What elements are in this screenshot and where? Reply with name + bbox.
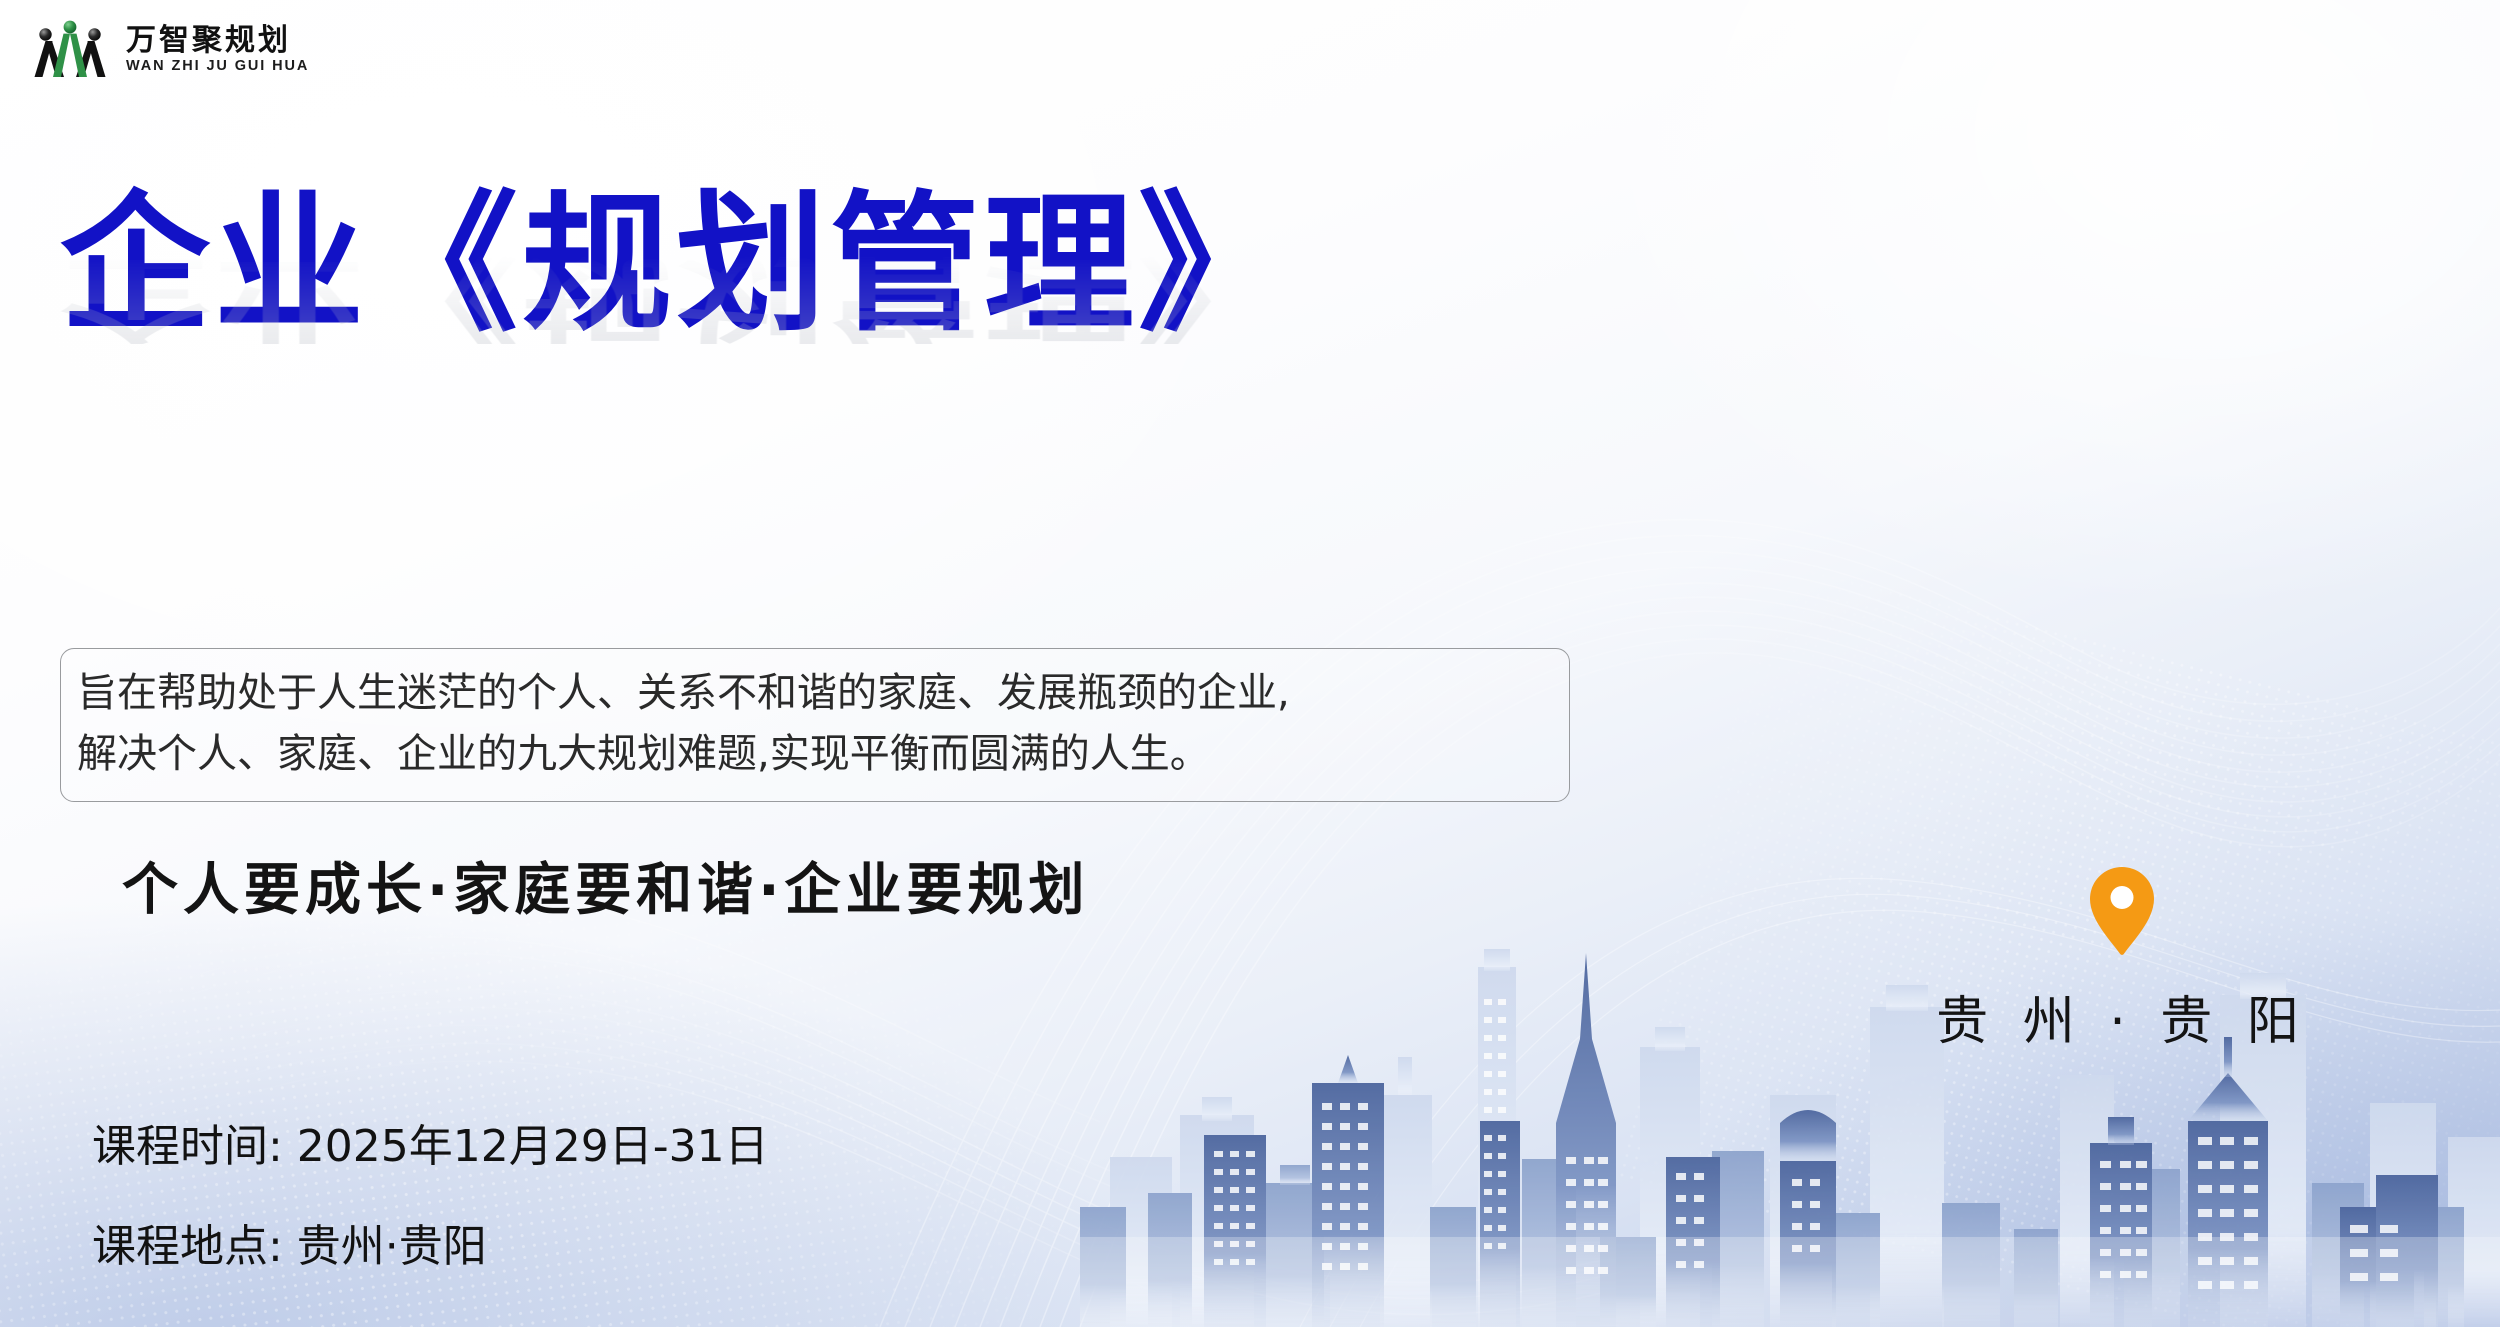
location-badge: 贵 州 · 贵 阳 bbox=[1902, 865, 2342, 1054]
poster-canvas: 万智聚规划 WAN ZHI JU GUI HUA 企业《规划管理》 企业《规划管… bbox=[0, 0, 2500, 1327]
slogan-text: 个人要成长·家庭要和谐·企业要规划 bbox=[122, 845, 1090, 926]
hero-title-block: 企业《规划管理》 企业《规划管理》 bbox=[60, 190, 1660, 494]
description-line-2: 解决个人、家庭、企业的九大规划难题,实现平衡而圆满的人生。 bbox=[77, 724, 1549, 785]
three-people-logo-icon bbox=[30, 14, 110, 84]
brand-name-cn: 万智聚规划 bbox=[126, 25, 309, 57]
description-box: 旨在帮助处于人生迷茫的个人、关系不和谐的家庭、发展瓶颈的企业, 解决个人、家庭、… bbox=[60, 648, 1570, 802]
brand-logo-text: 万智聚规划 WAN ZHI JU GUI HUA bbox=[126, 25, 309, 73]
course-place-line: 课程地点: 贵州·贵阳 bbox=[92, 1225, 769, 1269]
course-info-block: 课程时间: 2025年12月29日-31日 课程地点: 贵州·贵阳 bbox=[92, 1125, 769, 1269]
page-title-reflection: 企业《规划管理》 bbox=[60, 251, 1660, 344]
location-label: 贵 州 · 贵 阳 bbox=[1902, 979, 2342, 1054]
map-pin-icon bbox=[1902, 865, 2342, 957]
course-time-line: 课程时间: 2025年12月29日-31日 bbox=[92, 1125, 769, 1169]
brand-name-pinyin: WAN ZHI JU GUI HUA bbox=[126, 59, 309, 74]
description-line-1: 旨在帮助处于人生迷茫的个人、关系不和谐的家庭、发展瓶颈的企业, bbox=[77, 663, 1549, 724]
brand-logo[interactable]: 万智聚规划 WAN ZHI JU GUI HUA bbox=[30, 14, 309, 84]
